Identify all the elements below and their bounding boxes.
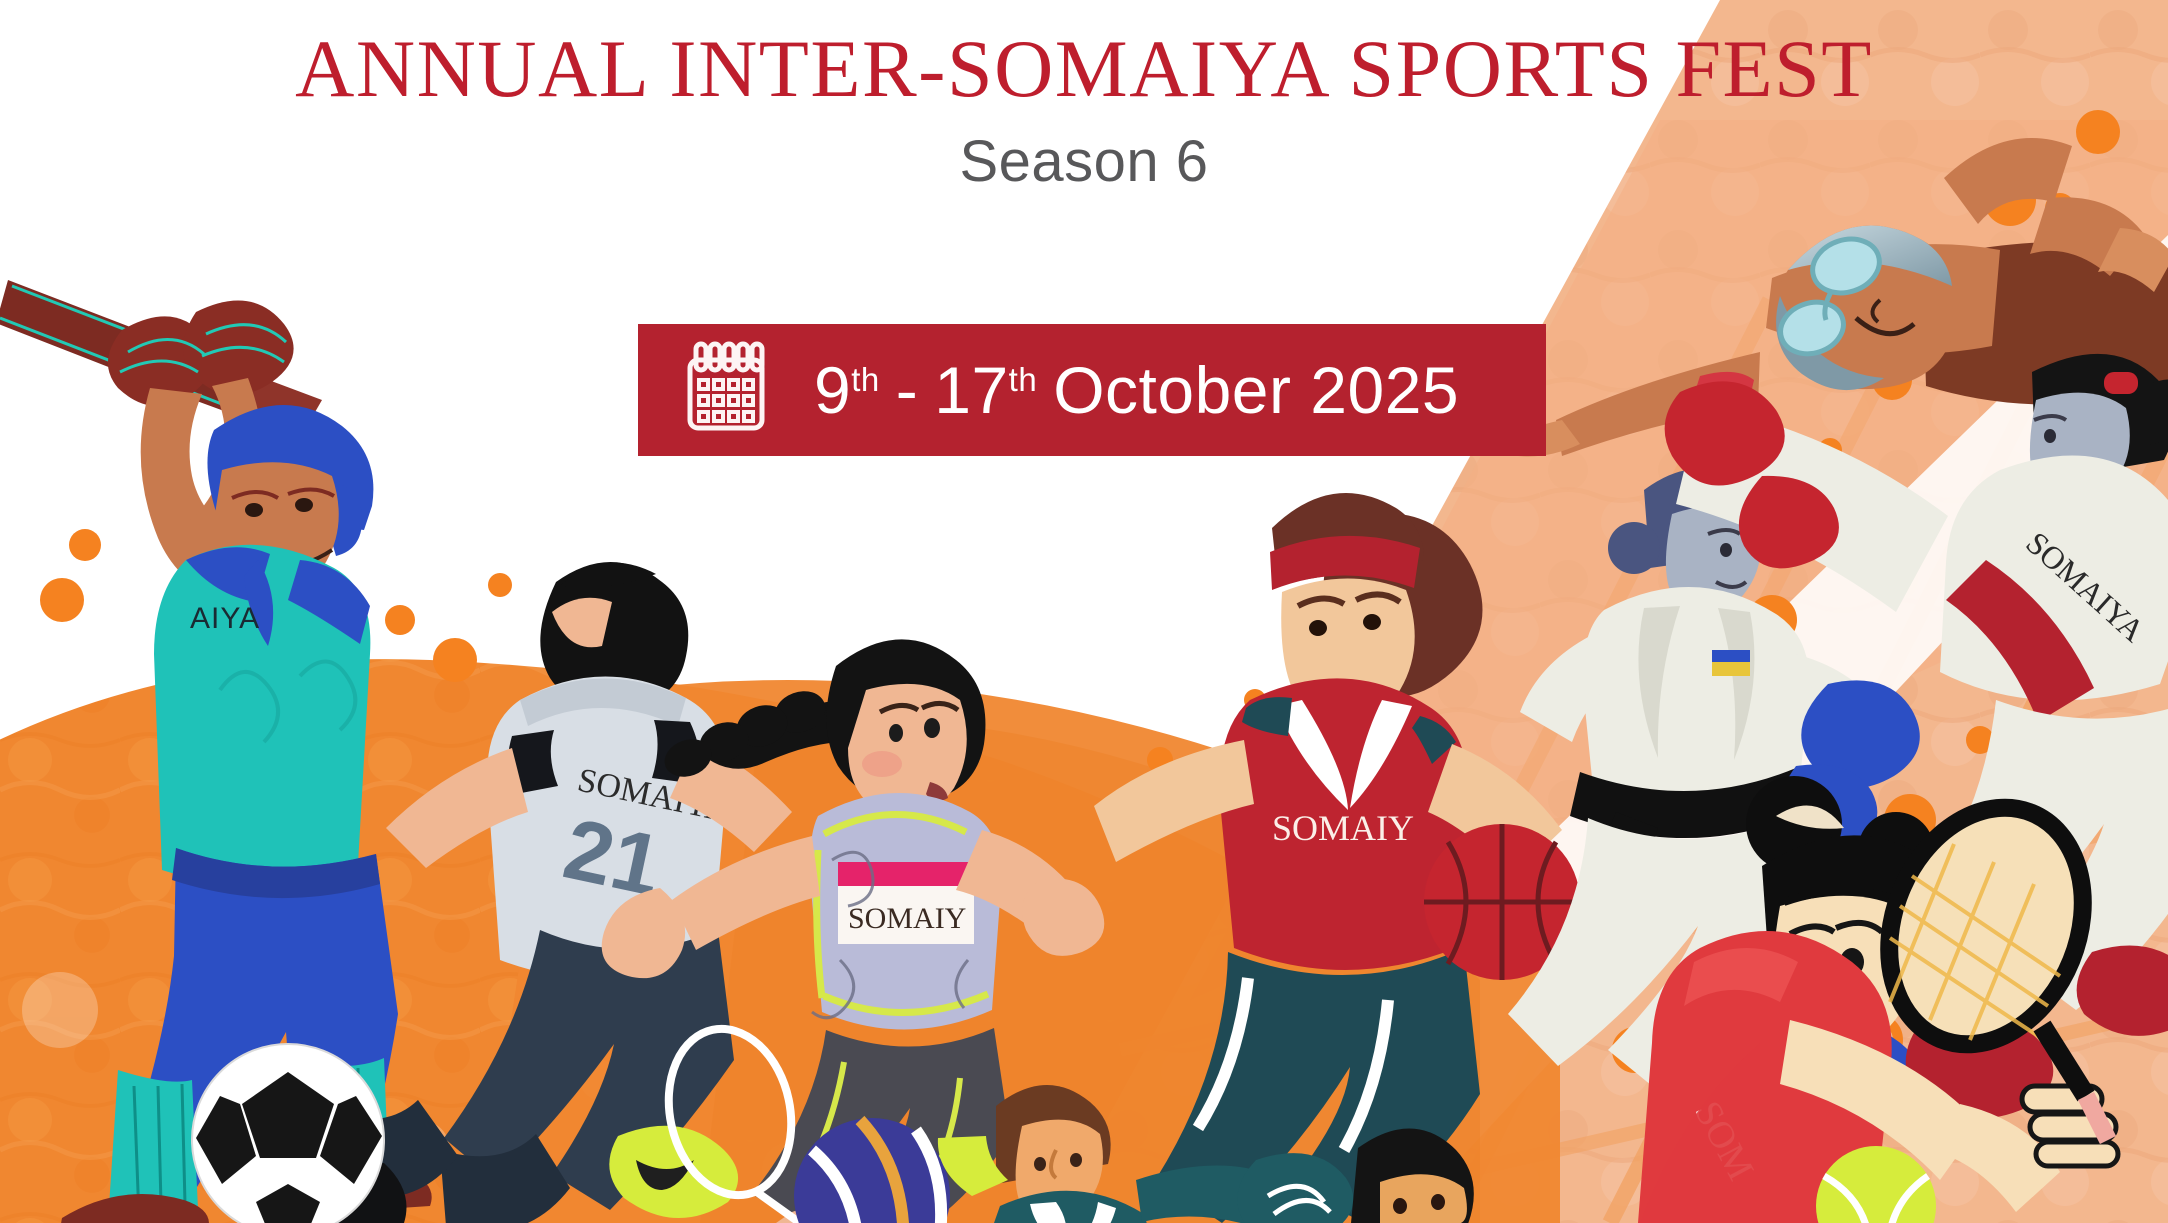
calendar-icon [680, 340, 772, 441]
date-separator: - [880, 352, 934, 428]
date-start-day: 9 [814, 352, 851, 428]
date-end-day: 17 [934, 352, 1008, 428]
sports-fest-poster: AIYA [0, 0, 2168, 1223]
svg-text:SOMAIY: SOMAIY [1272, 808, 1414, 848]
date-banner: 9th - 17th October 2025 [638, 324, 1546, 456]
date-month-year: October 2025 [1053, 352, 1459, 428]
svg-text:AIYA: AIYA [190, 602, 260, 635]
illustration-layer: AIYA [0, 0, 2168, 1223]
svg-text:SOMAIY: SOMAIY [848, 902, 966, 935]
date-text: 9th - 17th October 2025 [814, 352, 1459, 428]
